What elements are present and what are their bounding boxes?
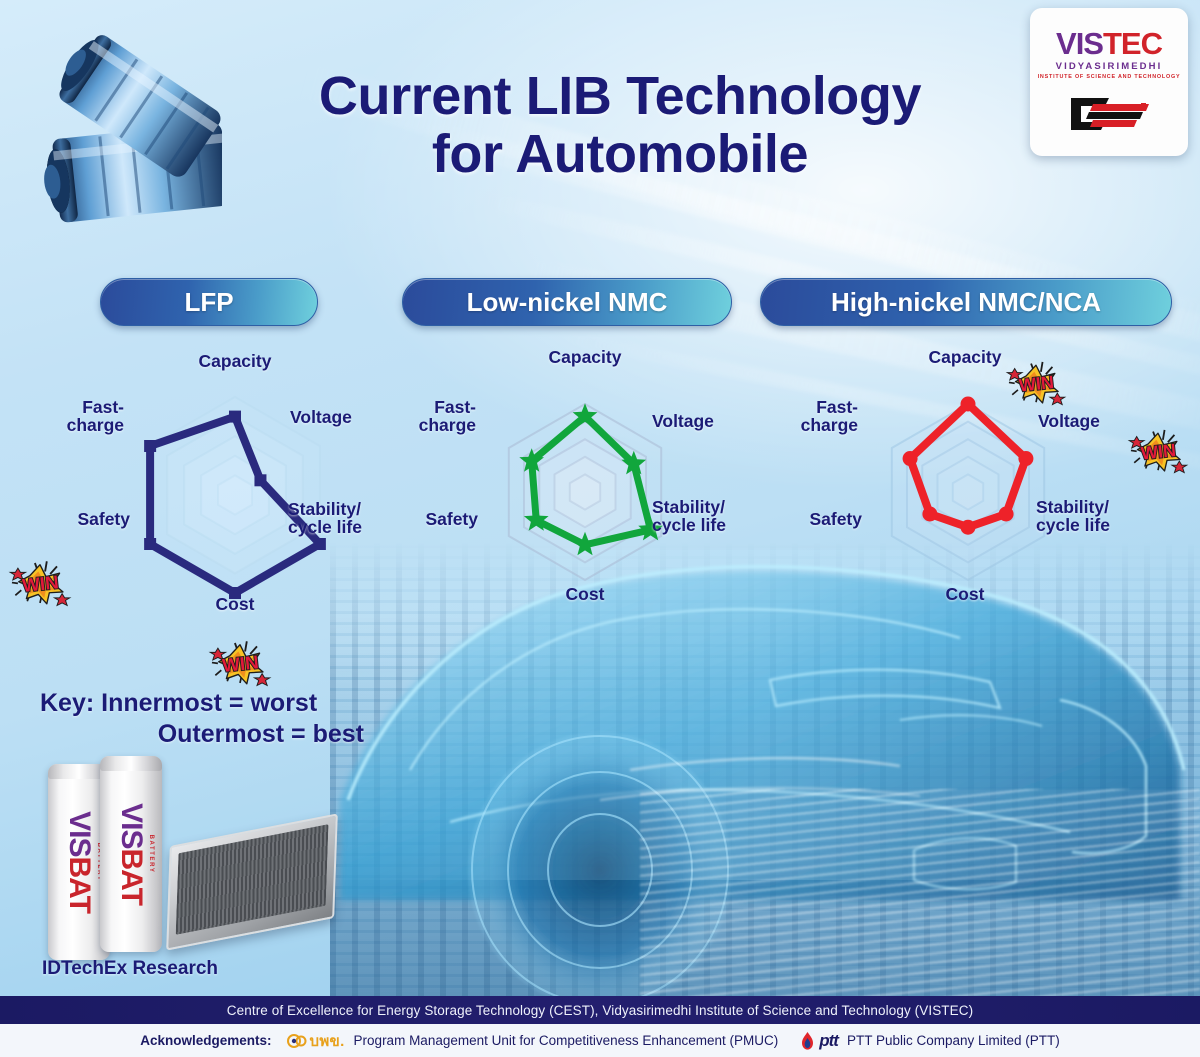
ptt-flame-icon	[799, 1031, 816, 1051]
axis-label-cost: Cost	[162, 595, 308, 613]
radar-grid	[892, 404, 1044, 580]
acknowledgements-label: Acknowledgements:	[140, 1033, 271, 1048]
panel-header-high-nickel-nmc-nca-label: High-nickel NMC/NCA	[831, 287, 1101, 318]
axis-label-capacity: Capacity	[892, 348, 1038, 366]
page-title: Current LIB Technology for Automobile	[230, 68, 1010, 184]
vistec-logo: VISTEC	[1056, 28, 1162, 59]
pmuc-thai-text: บพข.	[310, 1029, 345, 1053]
battery-module-photo	[166, 813, 338, 950]
axis-label-capacity: Capacity	[162, 352, 308, 370]
page-title-line1: Current LIB Technology	[230, 68, 1010, 126]
svg-text:WIN: WIN	[221, 651, 259, 676]
radar-chart-low-nickel-nmc: CapacityVoltageStability/ cycle lifeCost…	[452, 370, 752, 620]
axis-label-cost: Cost	[512, 585, 658, 603]
visbat-brand-2: VISBAT	[114, 803, 148, 905]
axis-label-cost: Cost	[892, 585, 1038, 603]
vistec-cest-logo-card: VISTEC VIDYASIRIMEDHI INSTITUTE OF SCIEN…	[1030, 8, 1188, 156]
source-credit: IDTechEx Research	[42, 958, 218, 980]
axis-label-voltage: Voltage	[1038, 412, 1148, 430]
axis-label-stability-cycle-life: Stability/ cycle life	[1036, 498, 1156, 534]
radar-chart-lfp: WIN WIN CapacityVoltageStability/ cycle …	[100, 370, 400, 620]
axis-label-fast-charge: Fast- charge	[356, 398, 476, 434]
axis-label-safety: Safety	[358, 510, 478, 528]
vistec-vis-text: VIS	[1056, 26, 1103, 61]
panel-header-lfp-label: LFP	[184, 287, 233, 318]
footer-institution-bar: Centre of Excellence for Energy Storage …	[0, 996, 1200, 1024]
page-title-line2: for Automobile	[230, 126, 1010, 184]
panel-header-low-nickel-nmc-label: Low-nickel NMC	[467, 287, 668, 318]
acknowledgements-bar: Acknowledgements: บพข. Program Managemen…	[0, 1024, 1200, 1057]
vistec-subtitle-institute: INSTITUTE OF SCIENCE AND TECHNOLOGY	[1038, 74, 1181, 80]
axis-label-safety: Safety	[2, 510, 130, 528]
radar-nmc-svg	[452, 370, 752, 620]
footer-institution-text: Centre of Excellence for Energy Storage …	[227, 1003, 973, 1018]
svg-text:WIN: WIN	[1018, 372, 1055, 396]
ptt-logo: ptt	[799, 1031, 838, 1051]
vistec-subtitle-thai-name: VIDYASIRIMEDHI	[1056, 61, 1163, 72]
panel-header-lfp[interactable]: LFP	[100, 278, 318, 326]
cest-logo	[1063, 94, 1155, 134]
background-motion-road	[640, 789, 1200, 999]
axis-label-safety: Safety	[740, 510, 862, 528]
pmuc-logo: บพข.	[287, 1029, 345, 1053]
radar-chart-high-nickel-nmc-nca: WIN WIN CapacityVoltageStability/ cycle …	[840, 370, 1140, 620]
ptt-wordmark: ptt	[819, 1031, 838, 1051]
pmuc-text: Program Management Unit for Competitiven…	[354, 1033, 779, 1048]
key-legend: Key: Innermost = worst Outermost = best	[40, 688, 380, 751]
axis-label-fast-charge: Fast- charge	[736, 398, 858, 434]
key-line-2: Outermost = best	[40, 719, 380, 750]
key-line-1: Key: Innermost = worst	[40, 688, 380, 719]
svg-text:WIN: WIN	[21, 571, 59, 596]
axis-label-fast-charge: Fast- charge	[0, 398, 124, 434]
axis-label-capacity: Capacity	[512, 348, 658, 366]
visbat-brand-1: VISBAT	[62, 811, 96, 913]
svg-text:WIN: WIN	[1140, 440, 1177, 464]
visbat-cell-photo-2: VISBAT BATTERY	[100, 756, 162, 952]
vistec-tec-text: TEC	[1103, 26, 1162, 61]
panel-header-low-nickel-nmc[interactable]: Low-nickel NMC	[402, 278, 732, 326]
product-photos: VISBAT BATTERY VISBAT BATTERY	[40, 752, 380, 964]
panel-header-high-nickel-nmc-nca[interactable]: High-nickel NMC/NCA	[760, 278, 1172, 326]
radar-hnmc-svg: WIN WIN	[840, 370, 1140, 620]
pmuc-icon	[287, 1032, 307, 1050]
battery-cells-icon	[22, 22, 222, 242]
visbat-sub-2: BATTERY	[148, 835, 154, 874]
ptt-text: PTT Public Company Limited (PTT)	[847, 1033, 1060, 1048]
